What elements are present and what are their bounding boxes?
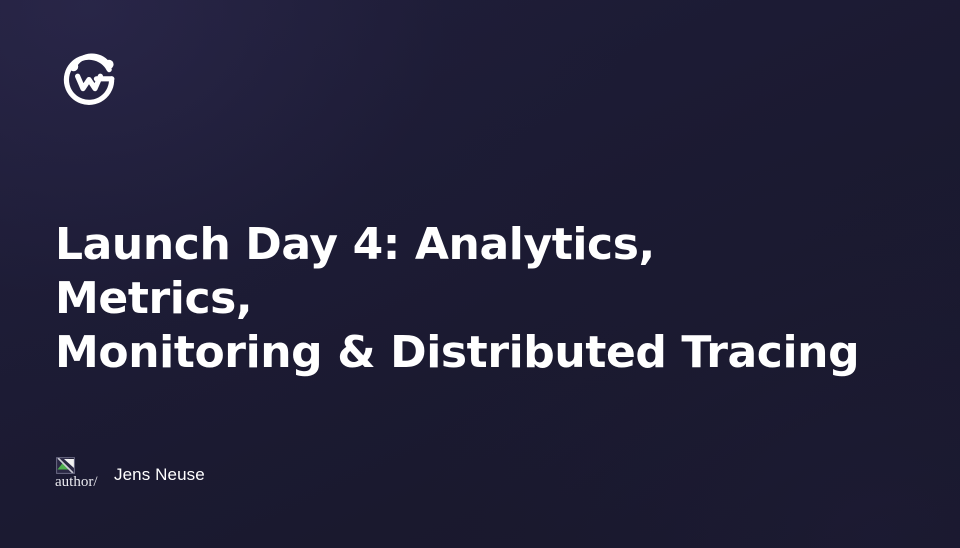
page-title: Launch Day 4: Analytics, Metrics, Monito…	[55, 218, 865, 380]
wundergraph-logo[interactable]	[55, 44, 123, 112]
author-name: Jens Neuse	[114, 465, 205, 486]
og-share-card: Launch Day 4: Analytics, Metrics, Monito…	[0, 0, 960, 548]
wundergraph-logo-icon	[55, 44, 123, 112]
avatar: author/	[55, 456, 103, 494]
avatar-alt-text: author/	[55, 473, 103, 492]
author-byline: author/ Jens Neuse	[55, 456, 205, 494]
